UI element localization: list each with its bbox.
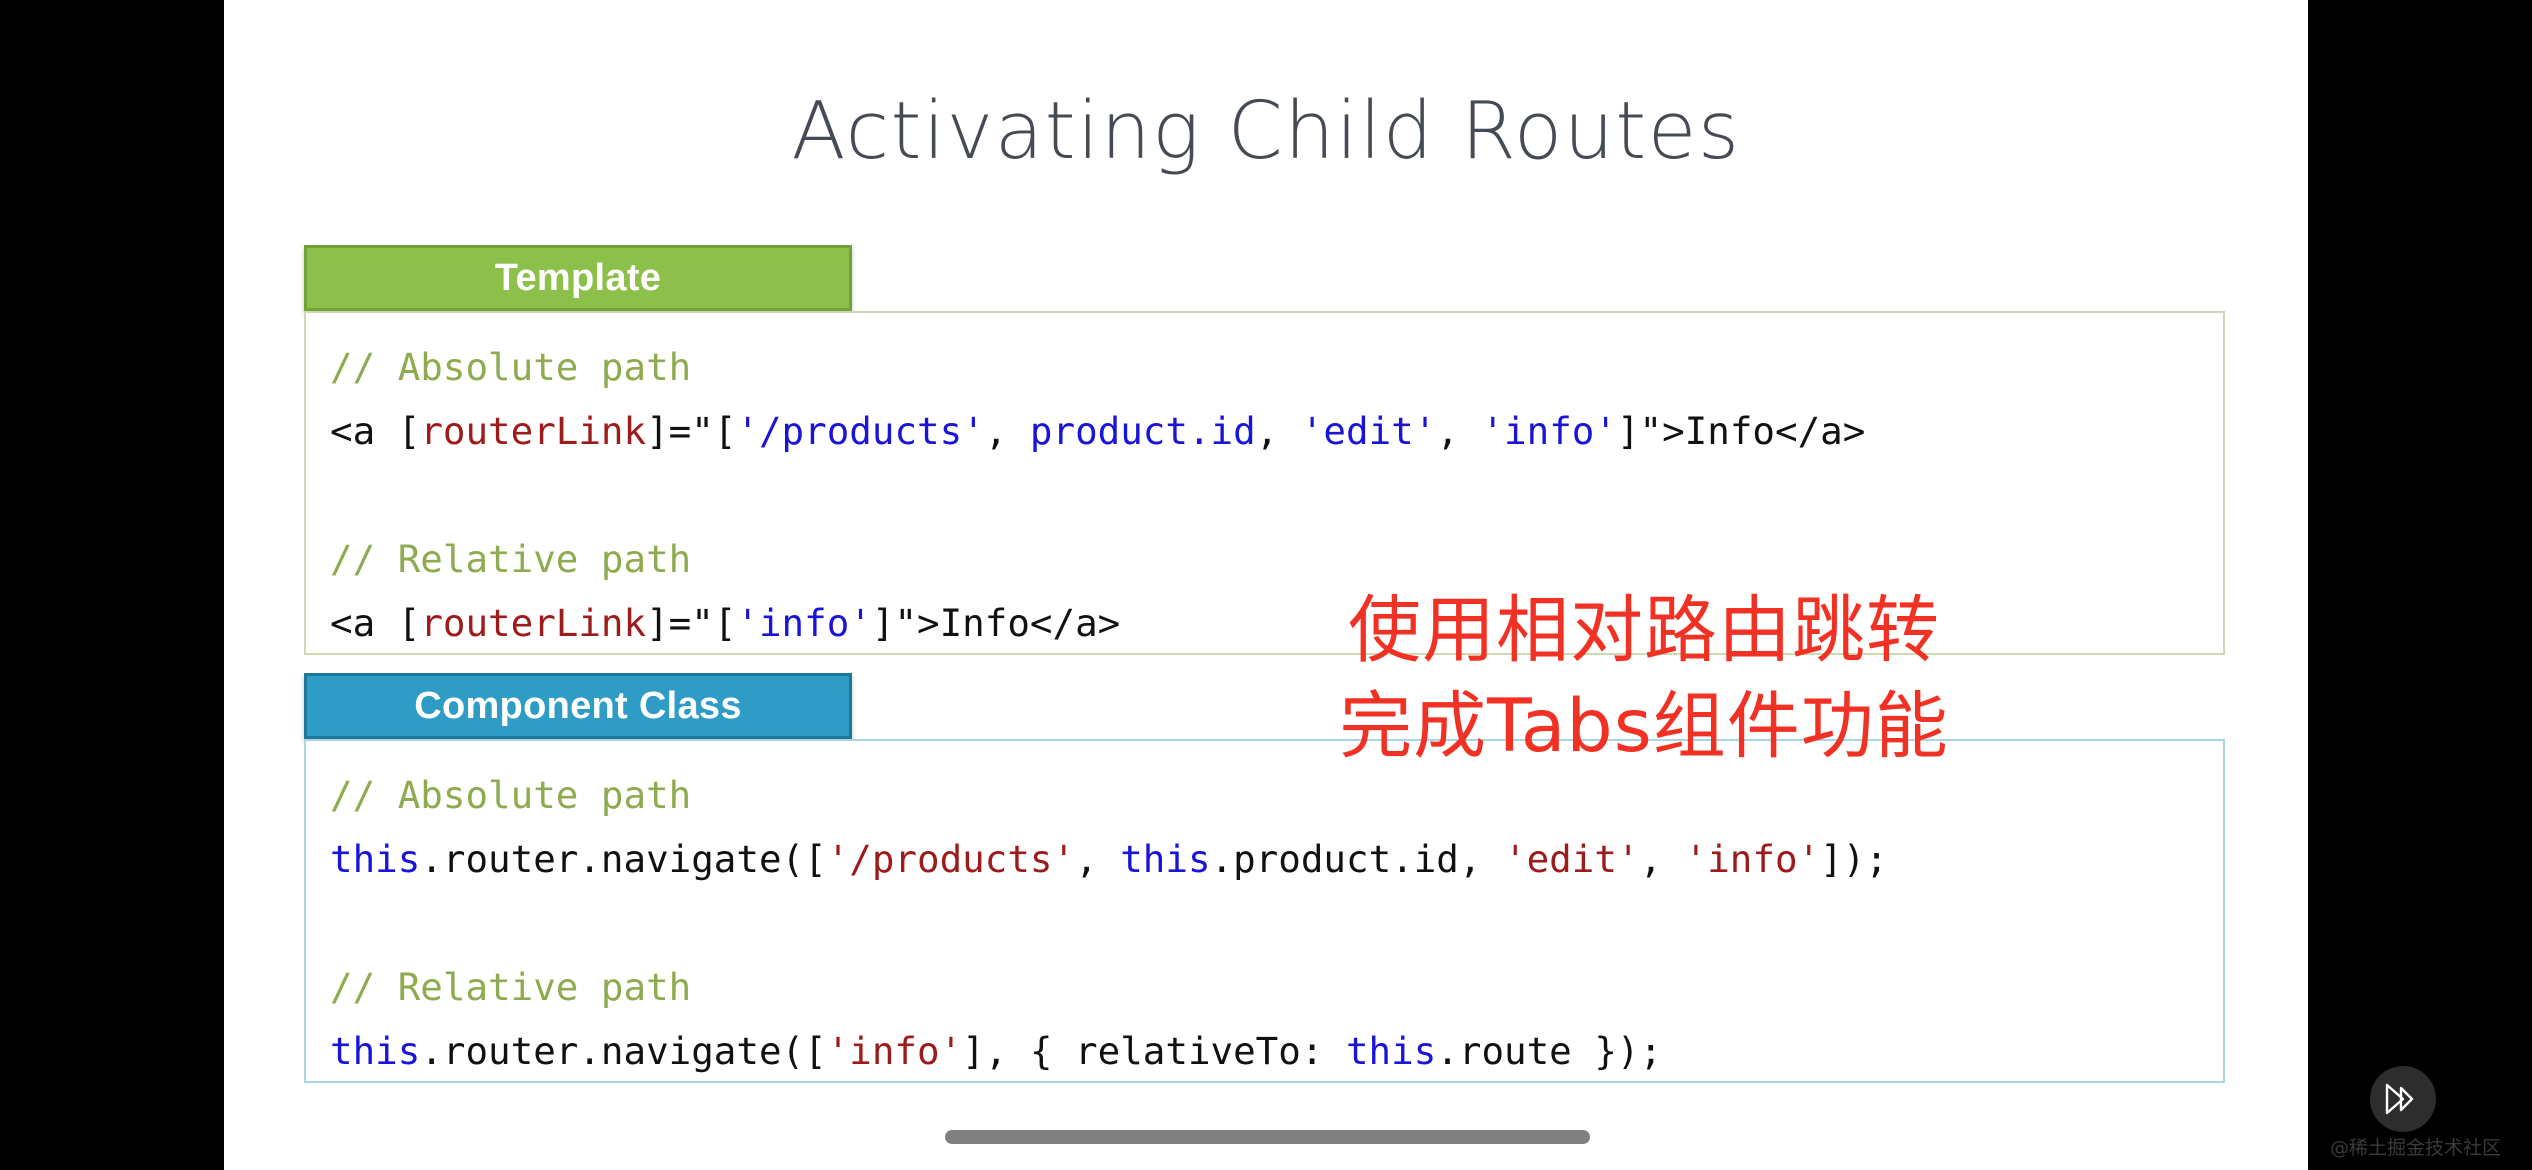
code-block-component-class: // Absolute path this.router.navigate(['… [304,739,2225,1083]
watermark-text: @稀土掘金技术社区 [2330,1133,2501,1160]
code-line-relative-component: this.router.navigate(['info'], { relativ… [330,1029,1662,1073]
play-next-icon[interactable] [2370,1066,2436,1132]
page-title: Activating Child Routes [224,85,2308,177]
code-comment-relative-template: // Relative path [330,537,691,581]
letterbox-bar-left [0,0,224,1170]
slide-canvas: Activating Child Routes Template // Abso… [224,0,2308,1170]
annotation-line-2: 完成Tabs组件功能 [1144,679,2144,775]
section-badge-template: Template [304,245,852,311]
code-line-absolute-component: this.router.navigate(['/products', this.… [330,837,1888,881]
annotation-line-1: 使用相对路由跳转 [1144,583,2144,679]
annotation-overlay: 使用相对路由跳转 完成Tabs组件功能 [1144,583,2144,775]
letterbox-bar-right [2308,0,2532,1170]
video-player-stage: Activating Child Routes Template // Abso… [0,0,2532,1170]
code-comment-absolute-template: // Absolute path [330,345,691,389]
code-comment-relative-component: // Relative path [330,965,691,1009]
code-comment-absolute-component: // Absolute path [330,773,691,817]
section-badge-template-label: Template [495,257,661,300]
section-badge-component-class: Component Class [304,673,852,739]
code-line-relative-template: <a [routerLink]="['info']">Info</a> [330,601,1120,645]
code-line-absolute-template: <a [routerLink]="['/products', product.i… [330,409,1865,453]
section-badge-component-class-label: Component Class [414,685,742,728]
progress-scrollbar[interactable] [945,1130,1590,1144]
